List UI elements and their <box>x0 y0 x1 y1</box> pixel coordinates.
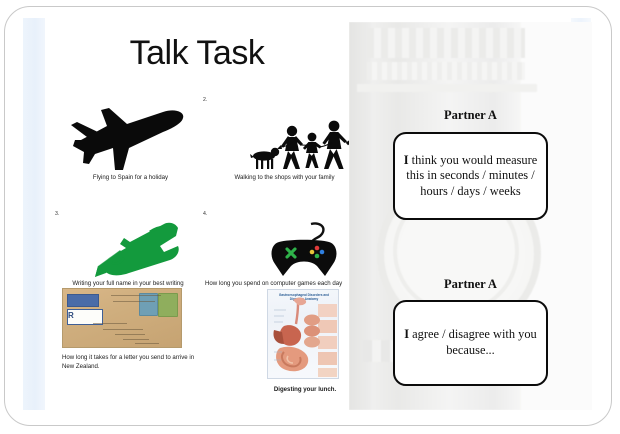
tower-ledge <box>357 84 537 92</box>
postage-stamp-green <box>158 293 178 317</box>
partner-label-1: Partner A <box>349 108 592 123</box>
airplane-icon <box>67 100 187 172</box>
item-number-3: 3. <box>55 212 59 217</box>
talk-task-slide: Talk Task Flying to Spain for a holiday … <box>45 22 349 410</box>
page-title: Talk Task <box>45 34 349 73</box>
bubble-2-text: agree / disagree with you because... <box>409 327 537 357</box>
item-caption-4: How long you spend on computer games eac… <box>205 280 349 289</box>
speech-bubble-2: I agree / disagree with you because... <box>393 300 548 386</box>
partner-prompts-panel: Partner A I think you would measure this… <box>349 22 592 410</box>
airmail-envelope-image: R <box>62 288 182 348</box>
item-caption-6: Digesting your lunch. <box>259 386 349 395</box>
left-page-edge-strip <box>23 18 45 410</box>
speech-bubble-1: I think you would measure this in second… <box>393 132 548 220</box>
item-number-4: 4. <box>203 212 207 217</box>
game-controller-icon <box>267 222 341 278</box>
tower-band-mid <box>367 62 525 80</box>
item-number-2: 2. <box>203 98 207 103</box>
item-caption-1: Flying to Spain for a holiday <box>63 174 198 183</box>
partner-label-2: Partner A <box>349 277 592 292</box>
item-caption-5: How long it takes for a letter you send … <box>62 354 202 372</box>
postage-stamp-blue <box>139 293 158 316</box>
bubble-1-text: think you would measure this in seconds … <box>406 153 537 198</box>
hand-writing-icon <box>90 220 182 278</box>
airmail-label <box>67 294 99 307</box>
family-walking-icon <box>250 120 349 172</box>
digestive-system-poster-image: Gastroesophageal Disorders and Digestive… <box>267 289 339 379</box>
tower-band-top <box>367 28 525 58</box>
registered-letter-r: R <box>68 309 74 323</box>
item-caption-2: Walking to the shops with your family <box>207 174 349 183</box>
